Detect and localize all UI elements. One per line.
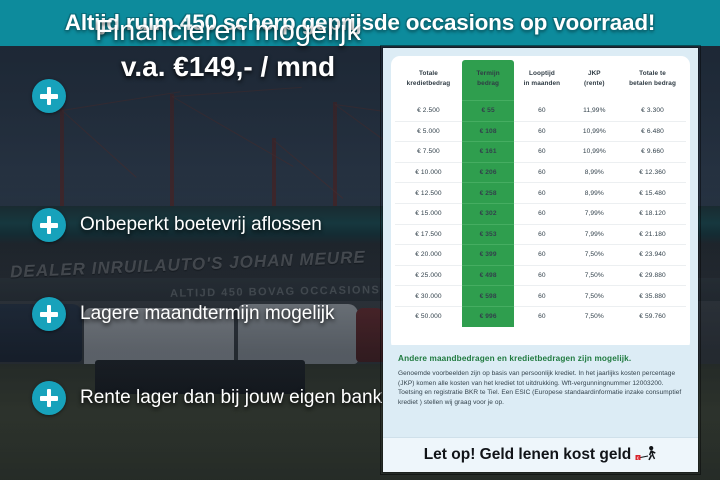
cell-totale-te-betalen: € 9.660 <box>619 142 686 163</box>
table-row: € 7.500€ 1616010,99%€ 9.660 <box>395 142 686 163</box>
header-line-1: Looptijd <box>515 69 568 79</box>
cell-totale-te-betalen: € 35.880 <box>619 286 686 307</box>
column-header-totale-kredietbedrag: Totale kredietbedrag <box>395 60 462 101</box>
cell-totale-kredietbedrag: € 7.500 <box>395 142 462 163</box>
cell-totale-te-betalen: € 23.940 <box>619 245 686 266</box>
cell-jkp: 7,99% <box>570 224 619 245</box>
table-row: € 20.000€ 399607,50%€ 23.940 <box>395 245 686 266</box>
cell-totale-te-betalen: € 29.880 <box>619 265 686 286</box>
cell-looptijd: 60 <box>514 224 569 245</box>
cell-totale-te-betalen: € 6.480 <box>619 121 686 142</box>
cell-totale-te-betalen: € 12.360 <box>619 162 686 183</box>
cell-looptijd: 60 <box>514 306 569 326</box>
cell-termijn-bedrag: € 55 <box>462 101 514 122</box>
cell-totale-kredietbedrag: € 15.000 <box>395 203 462 224</box>
bullet-label: Rente lager dan bij jouw eigen bank <box>80 387 382 409</box>
cell-totale-kredietbedrag: € 25.000 <box>395 265 462 286</box>
table-row: € 25.000€ 498607,50%€ 29.880 <box>395 265 686 286</box>
cell-looptijd: 60 <box>514 183 569 204</box>
plus-icon <box>32 208 66 242</box>
cell-jkp: 7,50% <box>570 286 619 307</box>
cell-totale-kredietbedrag: € 2.500 <box>395 101 462 122</box>
column-header-termijn-bedrag: Termijn bedrag <box>462 60 514 101</box>
cell-termijn-bedrag: € 302 <box>462 203 514 224</box>
cell-totale-kredietbedrag: € 17.500 <box>395 224 462 245</box>
bullet-item-aflossen[interactable]: Onbeperkt boetevrij aflossen <box>32 208 322 242</box>
cell-totale-kredietbedrag: € 12.500 <box>395 183 462 204</box>
cell-termijn-bedrag: € 161 <box>462 142 514 163</box>
column-header-looptijd: Looptijd in maanden <box>514 60 569 101</box>
warning-banner: Let op! Geld lenen kost geld € <box>383 437 698 472</box>
headline-line-2: v.a. €149,- / mnd <box>78 50 378 84</box>
disclaimer-section: Andere maandbedragen en kredietbedragen … <box>383 345 698 437</box>
cell-jkp: 10,99% <box>570 121 619 142</box>
header-line-1: Termijn <box>463 69 513 79</box>
rate-table-head: Totale kredietbedrag Termijn bedrag Loop… <box>395 60 686 101</box>
rate-table-card: Totale kredietbedrag Termijn bedrag Loop… <box>391 56 690 351</box>
cell-jkp: 10,99% <box>570 142 619 163</box>
cell-looptijd: 60 <box>514 265 569 286</box>
headline: Financieren mogelijk v.a. €149,- / mnd <box>78 14 378 84</box>
table-row: € 30.000€ 598607,50%€ 35.880 <box>395 286 686 307</box>
cell-jkp: 7,50% <box>570 245 619 266</box>
cell-totale-kredietbedrag: € 50.000 <box>395 306 462 326</box>
cell-looptijd: 60 <box>514 286 569 307</box>
warning-banner-text: Let op! Geld lenen kost geld <box>424 446 632 464</box>
cell-jkp: 8,99% <box>570 162 619 183</box>
cell-looptijd: 60 <box>514 245 569 266</box>
header-line-2: kredietbedrag <box>396 79 461 89</box>
cell-looptijd: 60 <box>514 142 569 163</box>
table-row: € 17.500€ 353607,99%€ 21.180 <box>395 224 686 245</box>
cell-totale-kredietbedrag: € 20.000 <box>395 245 462 266</box>
cell-looptijd: 60 <box>514 162 569 183</box>
cell-jkp: 7,50% <box>570 306 619 326</box>
table-row: € 12.500€ 258608,99%€ 15.480 <box>395 183 686 204</box>
bullet-item-maandtermijn[interactable]: Lagere maandtermijn mogelijk <box>32 297 335 331</box>
cell-termijn-bedrag: € 353 <box>462 224 514 245</box>
header-line-2: in maanden <box>515 79 568 89</box>
cell-termijn-bedrag: € 598 <box>462 286 514 307</box>
rate-table-body: € 2.500€ 556011,99%€ 3.300€ 5.000€ 10860… <box>395 101 686 327</box>
bullet-label: Onbeperkt boetevrij aflossen <box>80 214 322 236</box>
header-line-1: Totale te <box>620 69 685 79</box>
financing-panel: Totale kredietbedrag Termijn bedrag Loop… <box>383 48 698 472</box>
table-row: € 5.000€ 1086010,99%€ 6.480 <box>395 121 686 142</box>
cell-totale-te-betalen: € 21.180 <box>619 224 686 245</box>
header-line-2: (rente) <box>571 79 618 89</box>
bullet-label: Lagere maandtermijn mogelijk <box>80 303 335 325</box>
cell-looptijd: 60 <box>514 101 569 122</box>
cell-termijn-bedrag: € 399 <box>462 245 514 266</box>
cell-termijn-bedrag: € 108 <box>462 121 514 142</box>
column-header-jkp: JKP (rente) <box>570 60 619 101</box>
bullet-item-rente[interactable]: Rente lager dan bij jouw eigen bank <box>32 381 382 415</box>
header-line-2: bedrag <box>463 79 513 89</box>
rate-table: Totale kredietbedrag Termijn bedrag Loop… <box>395 60 686 327</box>
cell-termijn-bedrag: € 206 <box>462 162 514 183</box>
cell-termijn-bedrag: € 996 <box>462 306 514 326</box>
svg-text:€: € <box>637 455 640 460</box>
table-row: € 2.500€ 556011,99%€ 3.300 <box>395 101 686 122</box>
bullet-item-financieren[interactable] <box>32 79 66 113</box>
advertisement-canvas: Altijd ruim 450 scherp geprijsde occasio… <box>0 0 720 480</box>
rate-table-section: Totale kredietbedrag Termijn bedrag Loop… <box>383 48 698 345</box>
header-line-1: Totale <box>396 69 461 79</box>
table-row: € 15.000€ 302607,99%€ 18.120 <box>395 203 686 224</box>
table-header-row: Totale kredietbedrag Termijn bedrag Loop… <box>395 60 686 101</box>
cell-totale-te-betalen: € 3.300 <box>619 101 686 122</box>
table-row: € 10.000€ 206608,99%€ 12.360 <box>395 162 686 183</box>
cell-jkp: 8,99% <box>570 183 619 204</box>
disclaimer-heading: Andere maandbedragen en kredietbedragen … <box>398 354 683 363</box>
plus-icon <box>32 297 66 331</box>
cell-totale-kredietbedrag: € 5.000 <box>395 121 462 142</box>
cell-totale-te-betalen: € 59.760 <box>619 306 686 326</box>
cell-looptijd: 60 <box>514 203 569 224</box>
cell-totale-kredietbedrag: € 30.000 <box>395 286 462 307</box>
column-header-totale-te-betalen: Totale te betalen bedrag <box>619 60 686 101</box>
cell-totale-kredietbedrag: € 10.000 <box>395 162 462 183</box>
table-row: € 50.000€ 996607,50%€ 59.760 <box>395 306 686 326</box>
walking-person-pulling-euro-icon: € <box>635 445 657 465</box>
cell-totale-te-betalen: € 15.480 <box>619 183 686 204</box>
cell-looptijd: 60 <box>514 121 569 142</box>
disclaimer-body: Genoemde voorbeelden zijn op basis van p… <box>398 369 683 407</box>
cell-totale-te-betalen: € 18.120 <box>619 203 686 224</box>
cell-jkp: 7,99% <box>570 203 619 224</box>
cell-jkp: 7,50% <box>570 265 619 286</box>
header-line-1: JKP <box>571 69 618 79</box>
plus-icon <box>32 79 66 113</box>
cell-termijn-bedrag: € 258 <box>462 183 514 204</box>
cell-termijn-bedrag: € 498 <box>462 265 514 286</box>
cell-jkp: 11,99% <box>570 101 619 122</box>
plus-icon <box>32 381 66 415</box>
headline-line-1: Financieren mogelijk <box>78 14 378 48</box>
header-line-2: betalen bedrag <box>620 79 685 89</box>
